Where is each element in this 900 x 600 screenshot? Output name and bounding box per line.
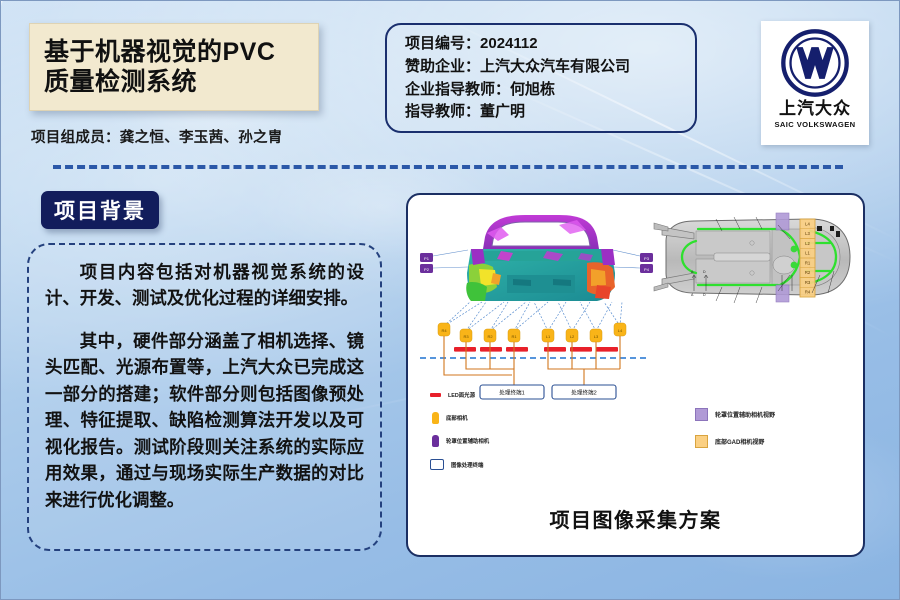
legend-label-image-terminal: 图像处理终端 — [451, 461, 483, 469]
svg-text:L2: L2 — [805, 241, 810, 246]
vw-roundel-icon — [779, 27, 851, 99]
legend-item-image-terminal: 图像处理终端 — [430, 459, 483, 470]
info-row-mentor: 指导教师：董广明 — [405, 101, 695, 124]
svg-text:P3: P3 — [644, 256, 650, 261]
section-badge-label: 项目背景 — [54, 195, 146, 225]
legend-item-wheelhouse-camera: 轮罩位置辅助相机 — [432, 435, 489, 447]
camera-wiring — [444, 336, 620, 385]
project-no-label: 项目编号： — [405, 35, 480, 52]
logo-english-text: SAIC VOLKSWAGEN — [774, 120, 855, 129]
svg-text:L1: L1 — [546, 334, 551, 339]
car-body-cae-render — [466, 215, 615, 301]
company-mentor-value: 何旭栋 — [510, 81, 555, 98]
page-title-line-1: 基于机器视觉的PVC — [44, 37, 318, 68]
svg-text:L2: L2 — [570, 334, 575, 339]
svg-text:R1: R1 — [805, 260, 811, 265]
svg-text:L3: L3 — [594, 334, 599, 339]
camera-fov-cones — [444, 302, 622, 331]
figure-caption: 项目图像采集方案 — [408, 504, 863, 533]
project-info-box: 项目编号：2024112 赞助企业：上汽大众汽车有限公司 企业指导教师：何旭栋 … — [385, 23, 697, 133]
image-terminal-swatch — [430, 459, 444, 470]
led-swatch — [430, 393, 441, 397]
legend-label-wheelhouse-fov: 轮罩位置辅助相机视野 — [715, 410, 775, 419]
figure-panel: P1 P2 P3 P4 — [406, 193, 865, 557]
svg-text:R4: R4 — [805, 290, 811, 295]
header-divider — [53, 165, 843, 169]
svg-text:R2: R2 — [487, 334, 493, 339]
underbody-scan: L4 L3 L2 L1 R1 R2 R3 R4 — [654, 213, 850, 303]
svg-text:L4: L4 — [805, 221, 810, 226]
legend-label-led: LED面光源 — [448, 391, 475, 399]
svg-text:R2: R2 — [805, 270, 811, 275]
legend-item-led: LED面光源 — [430, 391, 475, 399]
svg-text:R4: R4 — [441, 328, 447, 333]
legend-item-bottom-camera: 底部相机 — [432, 412, 468, 424]
wheelhouse-fov-swatch — [695, 408, 708, 421]
svg-text:R3: R3 — [805, 280, 811, 285]
legend-item-wheelhouse-fov: 轮罩位置辅助相机视野 — [695, 408, 775, 421]
legend-label-gad-fov: 底部GAD相机视野 — [715, 437, 764, 446]
svg-text:处理终端2: 处理终端2 — [571, 389, 597, 397]
wheelhouse-camera-right: P3 P4 — [640, 253, 653, 273]
saic-volkswagen-logo: 上汽大众 SAIC VOLKSWAGEN — [761, 21, 869, 145]
background-paragraph-1: 项目内容包括对机器视觉系统的设计、开发、测试及优化过程的详细安排。 — [45, 259, 364, 312]
page-title-line-2: 质量检测系统 — [44, 67, 318, 98]
section-badge-background: 项目背景 — [41, 191, 159, 229]
wheelhouse-camera-left: P1 P2 — [420, 253, 433, 273]
wheelhouse-camera-swatch — [432, 435, 439, 447]
logo-chinese-text: 上汽大众 — [779, 100, 851, 117]
bottom-camera-row: R4 R3 R2 R1 L1 — [438, 323, 626, 342]
svg-text:P2: P2 — [424, 267, 430, 272]
svg-text:L3: L3 — [805, 231, 810, 236]
gad-fov-column: L4 L3 L2 L1 R1 R2 R3 R4 — [800, 219, 815, 297]
legend-item-gad-fov: 底部GAD相机视野 — [695, 435, 764, 448]
processing-terminal-1: 处理终端1 — [480, 385, 544, 399]
image-acquisition-diagram: P1 P2 P3 P4 — [408, 195, 863, 495]
project-no-value: 2024112 — [480, 35, 538, 52]
processing-terminal-2: 处理终端2 — [552, 385, 616, 399]
svg-text:P4: P4 — [644, 267, 650, 272]
svg-text:R3: R3 — [463, 334, 469, 339]
svg-text:A: A — [691, 293, 694, 297]
sponsor-value: 上汽大众汽车有限公司 — [480, 58, 630, 75]
led-light-bars — [454, 347, 618, 352]
poster-root: 基于机器视觉的PVC 质量检测系统 项目组成员：龚之恒、李玉茜、孙之胄 项目编号… — [0, 0, 900, 600]
bottom-camera-swatch — [432, 412, 439, 424]
svg-text:R1: R1 — [511, 334, 517, 339]
svg-text:处理终端1: 处理终端1 — [499, 389, 525, 397]
svg-text:L1: L1 — [805, 251, 810, 256]
svg-text:D: D — [703, 270, 706, 274]
mentor-label: 指导教师： — [405, 103, 480, 120]
background-paragraph-2: 其中，硬件部分涵盖了相机选择、镜头匹配、光源布置等，上汽大众已完成这一部分的搭建… — [45, 328, 364, 513]
svg-text:P1: P1 — [424, 256, 430, 261]
wheelhouse-fov-patch — [776, 213, 789, 230]
info-row-project-no: 项目编号：2024112 — [405, 33, 695, 56]
poster-title-box: 基于机器视觉的PVC 质量检测系统 — [29, 23, 319, 111]
svg-text:L4: L4 — [618, 328, 623, 333]
legend-label-bottom-camera: 底部相机 — [446, 414, 468, 422]
mentor-value: 董广明 — [480, 103, 525, 120]
team-members: 项目组成员：龚之恒、李玉茜、孙之胄 — [31, 126, 283, 147]
info-row-sponsor: 赞助企业：上汽大众汽车有限公司 — [405, 56, 695, 79]
svg-text:D: D — [703, 293, 706, 297]
company-mentor-label: 企业指导教师： — [405, 81, 510, 98]
sponsor-label: 赞助企业： — [405, 58, 480, 75]
info-row-company-mentor: 企业指导教师：何旭栋 — [405, 79, 695, 102]
wheelhouse-fov-patch — [776, 285, 789, 302]
gad-fov-swatch — [695, 435, 708, 448]
background-text-box: 项目内容包括对机器视觉系统的设计、开发、测试及优化过程的详细安排。 其中，硬件部… — [27, 243, 382, 551]
legend-label-wheelhouse-camera: 轮罩位置辅助相机 — [446, 437, 489, 445]
